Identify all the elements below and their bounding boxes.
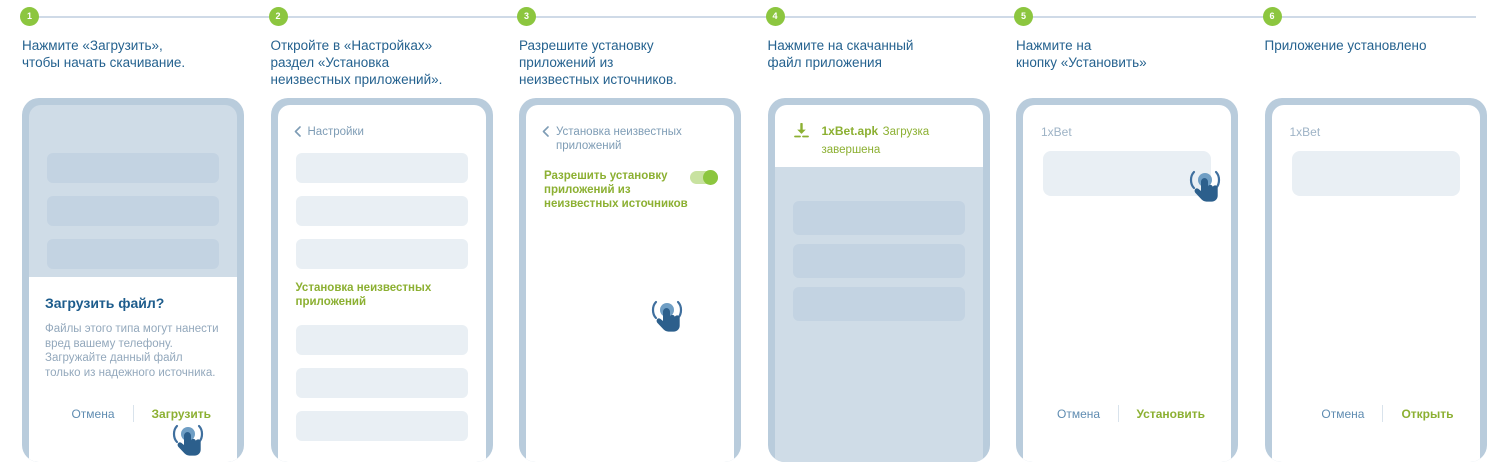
open-button[interactable]: Открыть bbox=[1383, 407, 1465, 421]
phone-mockup: 1xBet.apk Загрузка завершена bbox=[768, 98, 990, 462]
phone-mockup: Настройки Установка неизвестных приложен… bbox=[271, 98, 493, 462]
installation-guide: 1 Нажмите «Загрузить», чтобы начать скач… bbox=[0, 0, 1491, 476]
step-number-badge: 5 bbox=[1014, 7, 1033, 26]
cancel-button[interactable]: Отмена bbox=[53, 407, 132, 421]
step-5: 5 Нажмите на кнопку «Установить» 1xBet О… bbox=[994, 0, 1243, 476]
chevron-left-icon bbox=[542, 126, 549, 137]
step-number-badge: 2 bbox=[269, 7, 288, 26]
dialog-body: Файлы этого типа могут нанести вред ваше… bbox=[45, 322, 221, 380]
content-placeholder-bar bbox=[793, 244, 965, 278]
app-name-label: 1xBet bbox=[1290, 125, 1321, 139]
steps-row: 1 Нажмите «Загрузить», чтобы начать скач… bbox=[0, 0, 1491, 476]
download-button[interactable]: Загрузить bbox=[134, 407, 223, 421]
phone-screen: 1xBet Отмена Открыть bbox=[1272, 105, 1480, 462]
chevron-left-icon bbox=[294, 126, 301, 137]
cancel-button[interactable]: Отмена bbox=[1303, 407, 1382, 421]
settings-row-placeholder[interactable] bbox=[296, 325, 468, 355]
step-caption: Нажмите на кнопку «Установить» bbox=[1016, 37, 1236, 71]
settings-nav-title: Настройки bbox=[308, 125, 364, 139]
step-4: 4 Нажмите на скачанный файл приложения bbox=[746, 0, 995, 476]
content-placeholder-bar bbox=[47, 239, 219, 269]
cancel-button[interactable]: Отмена bbox=[1039, 407, 1118, 421]
step-1: 1 Нажмите «Загрузить», чтобы начать скач… bbox=[0, 0, 249, 476]
settings-row-placeholder[interactable] bbox=[296, 239, 468, 269]
phone-mockup: Установка неизвестных приложений Разреши… bbox=[519, 98, 741, 462]
step-number-badge: 4 bbox=[766, 7, 785, 26]
phone-screen: Загрузить файл? Файлы этого типа могут н… bbox=[29, 105, 237, 462]
download-notification-text: 1xBet.apk Загрузка завершена bbox=[822, 122, 983, 158]
download-icon bbox=[793, 123, 810, 140]
unknown-apps-section-label[interactable]: Установка неизвестных приложений bbox=[296, 281, 471, 309]
step-caption: Откройте в «Настройках» раздел «Установк… bbox=[271, 37, 491, 88]
download-dialog: Загрузить файл? Файлы этого типа могут н… bbox=[29, 277, 237, 462]
phone-mockup: Загрузить файл? Файлы этого типа могут н… bbox=[22, 98, 244, 462]
dialog-title: Загрузить файл? bbox=[45, 295, 221, 311]
settings-nav-title: Установка неизвестных приложений bbox=[556, 125, 720, 153]
step-number-badge: 1 bbox=[20, 7, 39, 26]
installer-actions: Отмена Установить bbox=[1039, 405, 1217, 422]
app-name-label: 1xBet bbox=[1041, 125, 1072, 139]
phone-mockup: 1xBet Отмена Открыть bbox=[1265, 98, 1487, 462]
step-number-badge: 3 bbox=[517, 7, 536, 26]
allow-install-label: Разрешить установку приложений из неизве… bbox=[544, 169, 694, 211]
content-placeholder-bar bbox=[793, 287, 965, 321]
step-number-badge: 6 bbox=[1263, 7, 1282, 26]
app-info-placeholder bbox=[1292, 151, 1460, 196]
phone-mockup: 1xBet Отмена Установить bbox=[1016, 98, 1238, 462]
step-2: 2 Откройте в «Настройках» раздел «Устано… bbox=[249, 0, 498, 476]
step-caption: Разрешите установку приложений из неизве… bbox=[519, 37, 739, 88]
step-6: 6 Приложение установлено 1xBet Отмена От… bbox=[1243, 0, 1491, 476]
content-placeholder-bar bbox=[47, 196, 219, 226]
allow-install-toggle[interactable] bbox=[690, 171, 718, 184]
phone-screen: Настройки Установка неизвестных приложен… bbox=[278, 105, 486, 462]
phone-screen: 1xBet Отмена Установить bbox=[1023, 105, 1231, 462]
download-notification[interactable]: 1xBet.apk Загрузка завершена bbox=[775, 105, 983, 167]
install-button[interactable]: Установить bbox=[1118, 407, 1217, 421]
downloaded-file-name: 1xBet.apk bbox=[822, 124, 879, 138]
content-placeholder-bar bbox=[793, 201, 965, 235]
settings-row-placeholder[interactable] bbox=[296, 153, 468, 183]
settings-row-placeholder[interactable] bbox=[296, 196, 468, 226]
dialog-actions: Отмена Загрузить bbox=[45, 405, 223, 422]
phone-screen: 1xBet.apk Загрузка завершена bbox=[775, 105, 983, 462]
step-3: 3 Разрешите установку приложений из неиз… bbox=[497, 0, 746, 476]
phone-screen: Установка неизвестных приложений Разреши… bbox=[526, 105, 734, 462]
toggle-knob bbox=[703, 170, 718, 185]
step-caption: Нажмите «Загрузить», чтобы начать скачив… bbox=[22, 37, 242, 71]
settings-row-placeholder[interactable] bbox=[296, 368, 468, 398]
app-info-placeholder bbox=[1043, 151, 1211, 196]
step-caption: Приложение установлено bbox=[1265, 37, 1485, 54]
installer-actions: Отмена Открыть bbox=[1288, 405, 1466, 422]
settings-nav-row[interactable]: Настройки bbox=[294, 125, 472, 139]
settings-row-placeholder[interactable] bbox=[296, 411, 468, 441]
settings-nav-row[interactable]: Установка неизвестных приложений bbox=[542, 125, 720, 153]
content-placeholder-bar bbox=[47, 153, 219, 183]
step-caption: Нажмите на скачанный файл приложения bbox=[768, 37, 988, 71]
